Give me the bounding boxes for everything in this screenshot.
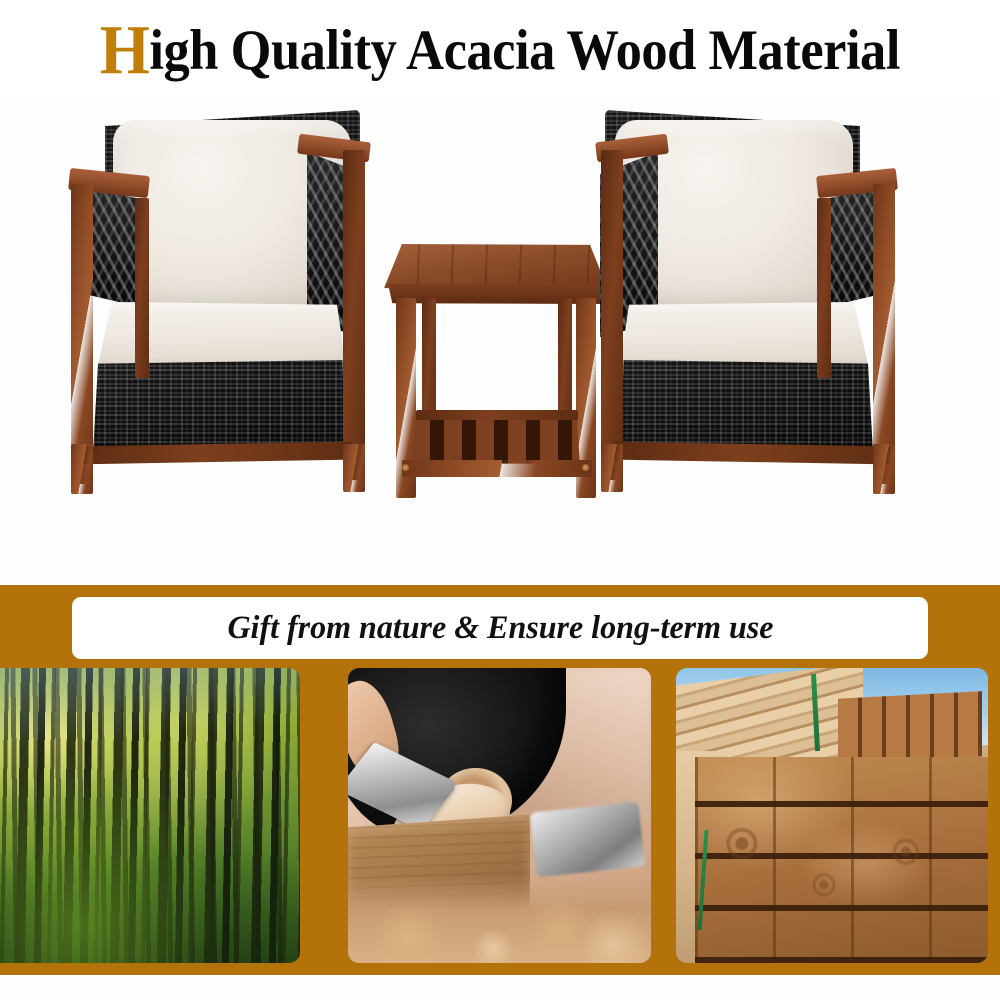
page-title: High Quality Acacia Wood Material	[0, 0, 1000, 100]
right-chair-post-front-right	[873, 184, 895, 484]
side-table-shelf-rail	[402, 460, 592, 477]
side-table-screw-right	[582, 464, 589, 471]
forest-image	[0, 668, 300, 963]
title-drop-cap: H	[100, 12, 150, 89]
feature-banner: Gift from nature & Ensure long-term use	[0, 585, 1000, 975]
lumber-end-grain	[695, 757, 988, 964]
right-chair-bottom-rail	[613, 442, 891, 465]
right-chair-foot-left	[601, 444, 623, 492]
lumber-rear-beams	[838, 691, 982, 763]
product-scene	[0, 96, 1000, 585]
photo-forest	[0, 668, 300, 963]
lumber-main-stack	[695, 757, 988, 964]
photo-row	[0, 668, 1000, 963]
left-armchair	[55, 106, 360, 526]
left-chair-front-apron	[93, 360, 345, 452]
product-infographic: High Quality Acacia Wood Material	[0, 0, 1000, 1000]
left-chair-foot-left	[71, 444, 93, 494]
right-chair-post-front-left	[601, 150, 623, 480]
side-table-shelf-slats	[412, 416, 580, 464]
left-chair-foot-right	[343, 444, 365, 492]
woodworking-image	[348, 668, 651, 963]
callout-box: Gift from nature & Ensure long-term use	[72, 597, 928, 659]
carving-sawdust	[348, 875, 651, 964]
title-text: High Quality Acacia Wood Material	[100, 22, 900, 79]
lumber-image	[676, 668, 988, 963]
left-chair-post-front-right	[343, 150, 365, 480]
footer-strip	[0, 975, 1000, 1000]
left-chair-bottom-rail	[75, 442, 353, 465]
side-table	[382, 244, 612, 514]
side-table-top	[384, 244, 608, 290]
left-chair-post-front-left	[71, 184, 93, 484]
left-chair-post-rear-left	[135, 198, 149, 378]
right-chair-front-apron	[621, 360, 873, 452]
photo-lumber	[676, 668, 988, 963]
title-remainder: igh Quality Acacia Wood Material	[150, 19, 901, 82]
carving-hand-plane	[530, 801, 645, 877]
right-chair-foot-right	[873, 444, 895, 494]
photo-woodworking	[348, 668, 651, 963]
right-armchair	[605, 106, 910, 526]
side-table-screw-left	[402, 464, 409, 471]
callout-text: Gift from nature & Ensure long-term use	[227, 610, 773, 647]
side-table-shelf-rail-back	[416, 410, 578, 420]
right-chair-post-rear-right	[817, 198, 831, 378]
